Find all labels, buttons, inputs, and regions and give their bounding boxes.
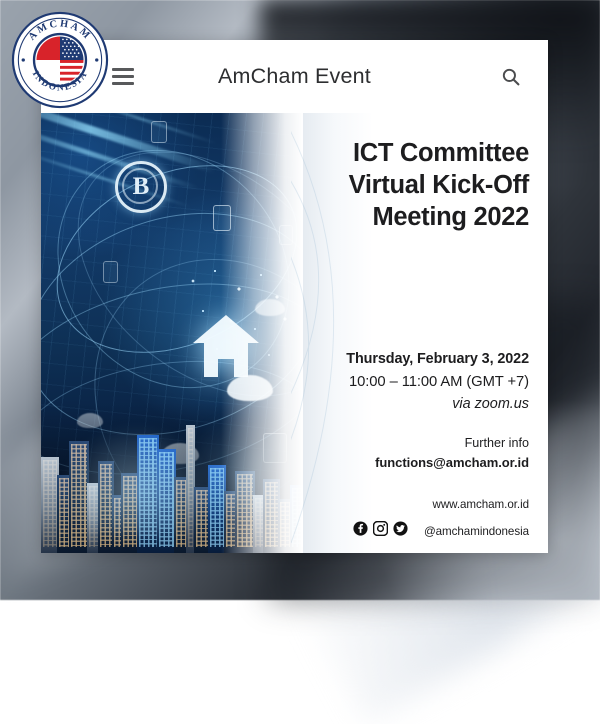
event-date: Thursday, February 3, 2022 <box>331 349 529 371</box>
device-glyph <box>213 205 231 231</box>
social-row: @amchamindonesia <box>319 521 529 541</box>
website-link[interactable]: www.amcham.or.id <box>319 496 529 515</box>
event-title: ICT Committee Virtual Kick-Off Meeting 2… <box>331 137 529 233</box>
logo-dot <box>95 58 98 61</box>
further-info-label: Further info <box>331 433 529 453</box>
event-title-line-3: Meeting 2022 <box>331 201 529 233</box>
search-icon[interactable] <box>501 67 521 87</box>
event-card: AmCham Event <box>41 40 548 553</box>
event-details-column: ICT Committee Virtual Kick-Off Meeting 2… <box>331 113 529 553</box>
amcham-indonesia-logo[interactable]: AMCHAM INDONESIA <box>11 11 109 109</box>
contact-email[interactable]: functions@amcham.or.id <box>331 453 529 474</box>
app-header: AmCham Event <box>41 40 548 113</box>
smart-house-icon <box>189 309 263 383</box>
twitter-icon[interactable] <box>393 521 408 541</box>
cloud-icon <box>255 299 285 316</box>
event-time: 10:00 – 11:00 AM (GMT +7) <box>331 371 529 393</box>
facebook-icon[interactable] <box>353 521 368 541</box>
device-glyph <box>279 225 293 245</box>
logo-flag-quadrants <box>36 36 83 83</box>
city-haze <box>181 413 303 513</box>
device-glyph <box>103 261 118 283</box>
event-title-line-2: Virtual Kick-Off <box>331 169 529 201</box>
event-schedule: Thursday, February 3, 2022 10:00 – 11:00… <box>331 349 529 416</box>
instagram-icon[interactable] <box>373 521 388 541</box>
page-title: AmCham Event <box>41 64 548 89</box>
card-footer: www.amcham.or.id <box>319 496 529 541</box>
social-handle[interactable]: @amchamindonesia <box>424 525 529 538</box>
event-title-line-1: ICT Committee <box>331 137 529 169</box>
social-icons <box>353 521 408 541</box>
further-info-block: Further info functions@amcham.or.id <box>331 433 529 474</box>
logo-dot <box>22 58 25 61</box>
event-platform: via zoom.us <box>331 393 529 416</box>
bitcoin-icon <box>115 161 167 213</box>
device-glyph <box>151 121 167 143</box>
event-hero-image <box>41 113 303 553</box>
cloud-icon <box>227 375 273 401</box>
